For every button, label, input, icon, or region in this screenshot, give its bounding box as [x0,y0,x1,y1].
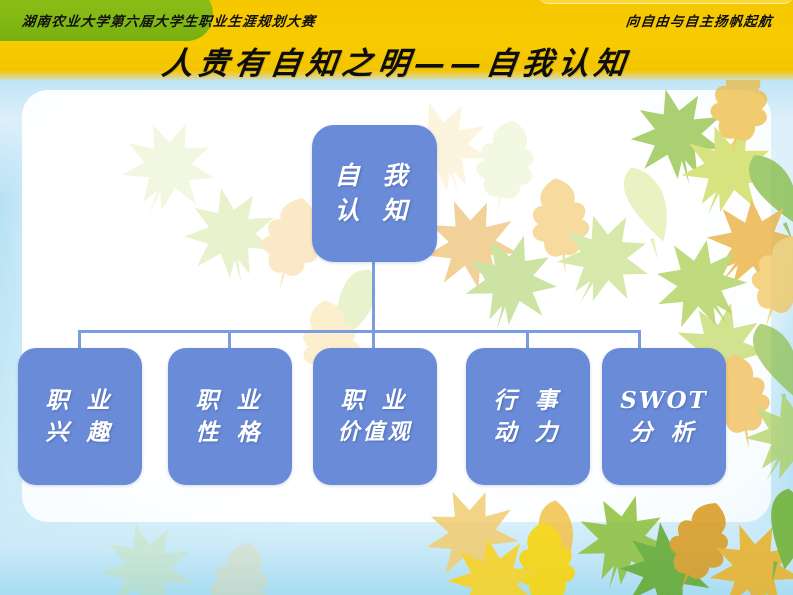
node-swot-analysis-line2: 分 析 [629,417,698,449]
connector-drop-4 [638,330,641,350]
node-career-values[interactable]: 职 业 价值观 [313,348,437,485]
node-action-motivation[interactable]: 行 事 动 力 [466,348,590,485]
node-career-values-line2: 价值观 [337,417,412,447]
node-career-personality[interactable]: 职 业 性 格 [168,348,292,485]
connector-root-stem [372,262,375,332]
connector-horizontal-bus [78,330,640,333]
self-cognition-tree-diagram: 自 我 认 知 职 业 兴 趣 职 业 性 格 职 业 价值观 行 事 动 力 … [0,0,793,595]
node-career-interest-line1: 职 业 [45,385,114,417]
node-self-cognition-line1: 自 我 [335,159,415,194]
connector-drop-1 [228,330,231,350]
slide-canvas: 湖南农业大学第六届大学生职业生涯规划大赛 向自由与自主扬帆起航 人贵有自知之明—… [0,0,793,595]
node-swot-analysis[interactable]: SWOT 分 析 [602,348,726,485]
node-self-cognition-line2: 认 知 [335,194,415,229]
node-swot-analysis-line1: SWOT [620,385,708,417]
node-career-personality-line1: 职 业 [195,385,264,417]
node-career-interest-line2: 兴 趣 [45,417,114,449]
node-action-motivation-line1: 行 事 [493,385,562,417]
node-career-interest[interactable]: 职 业 兴 趣 [18,348,142,485]
node-career-personality-line2: 性 格 [195,417,264,449]
node-self-cognition[interactable]: 自 我 认 知 [312,125,437,262]
connector-drop-3 [526,330,529,350]
connector-drop-0 [78,330,81,350]
node-action-motivation-line2: 动 力 [493,417,562,449]
node-career-values-line1: 职 业 [340,385,409,417]
connector-drop-2 [372,330,375,350]
